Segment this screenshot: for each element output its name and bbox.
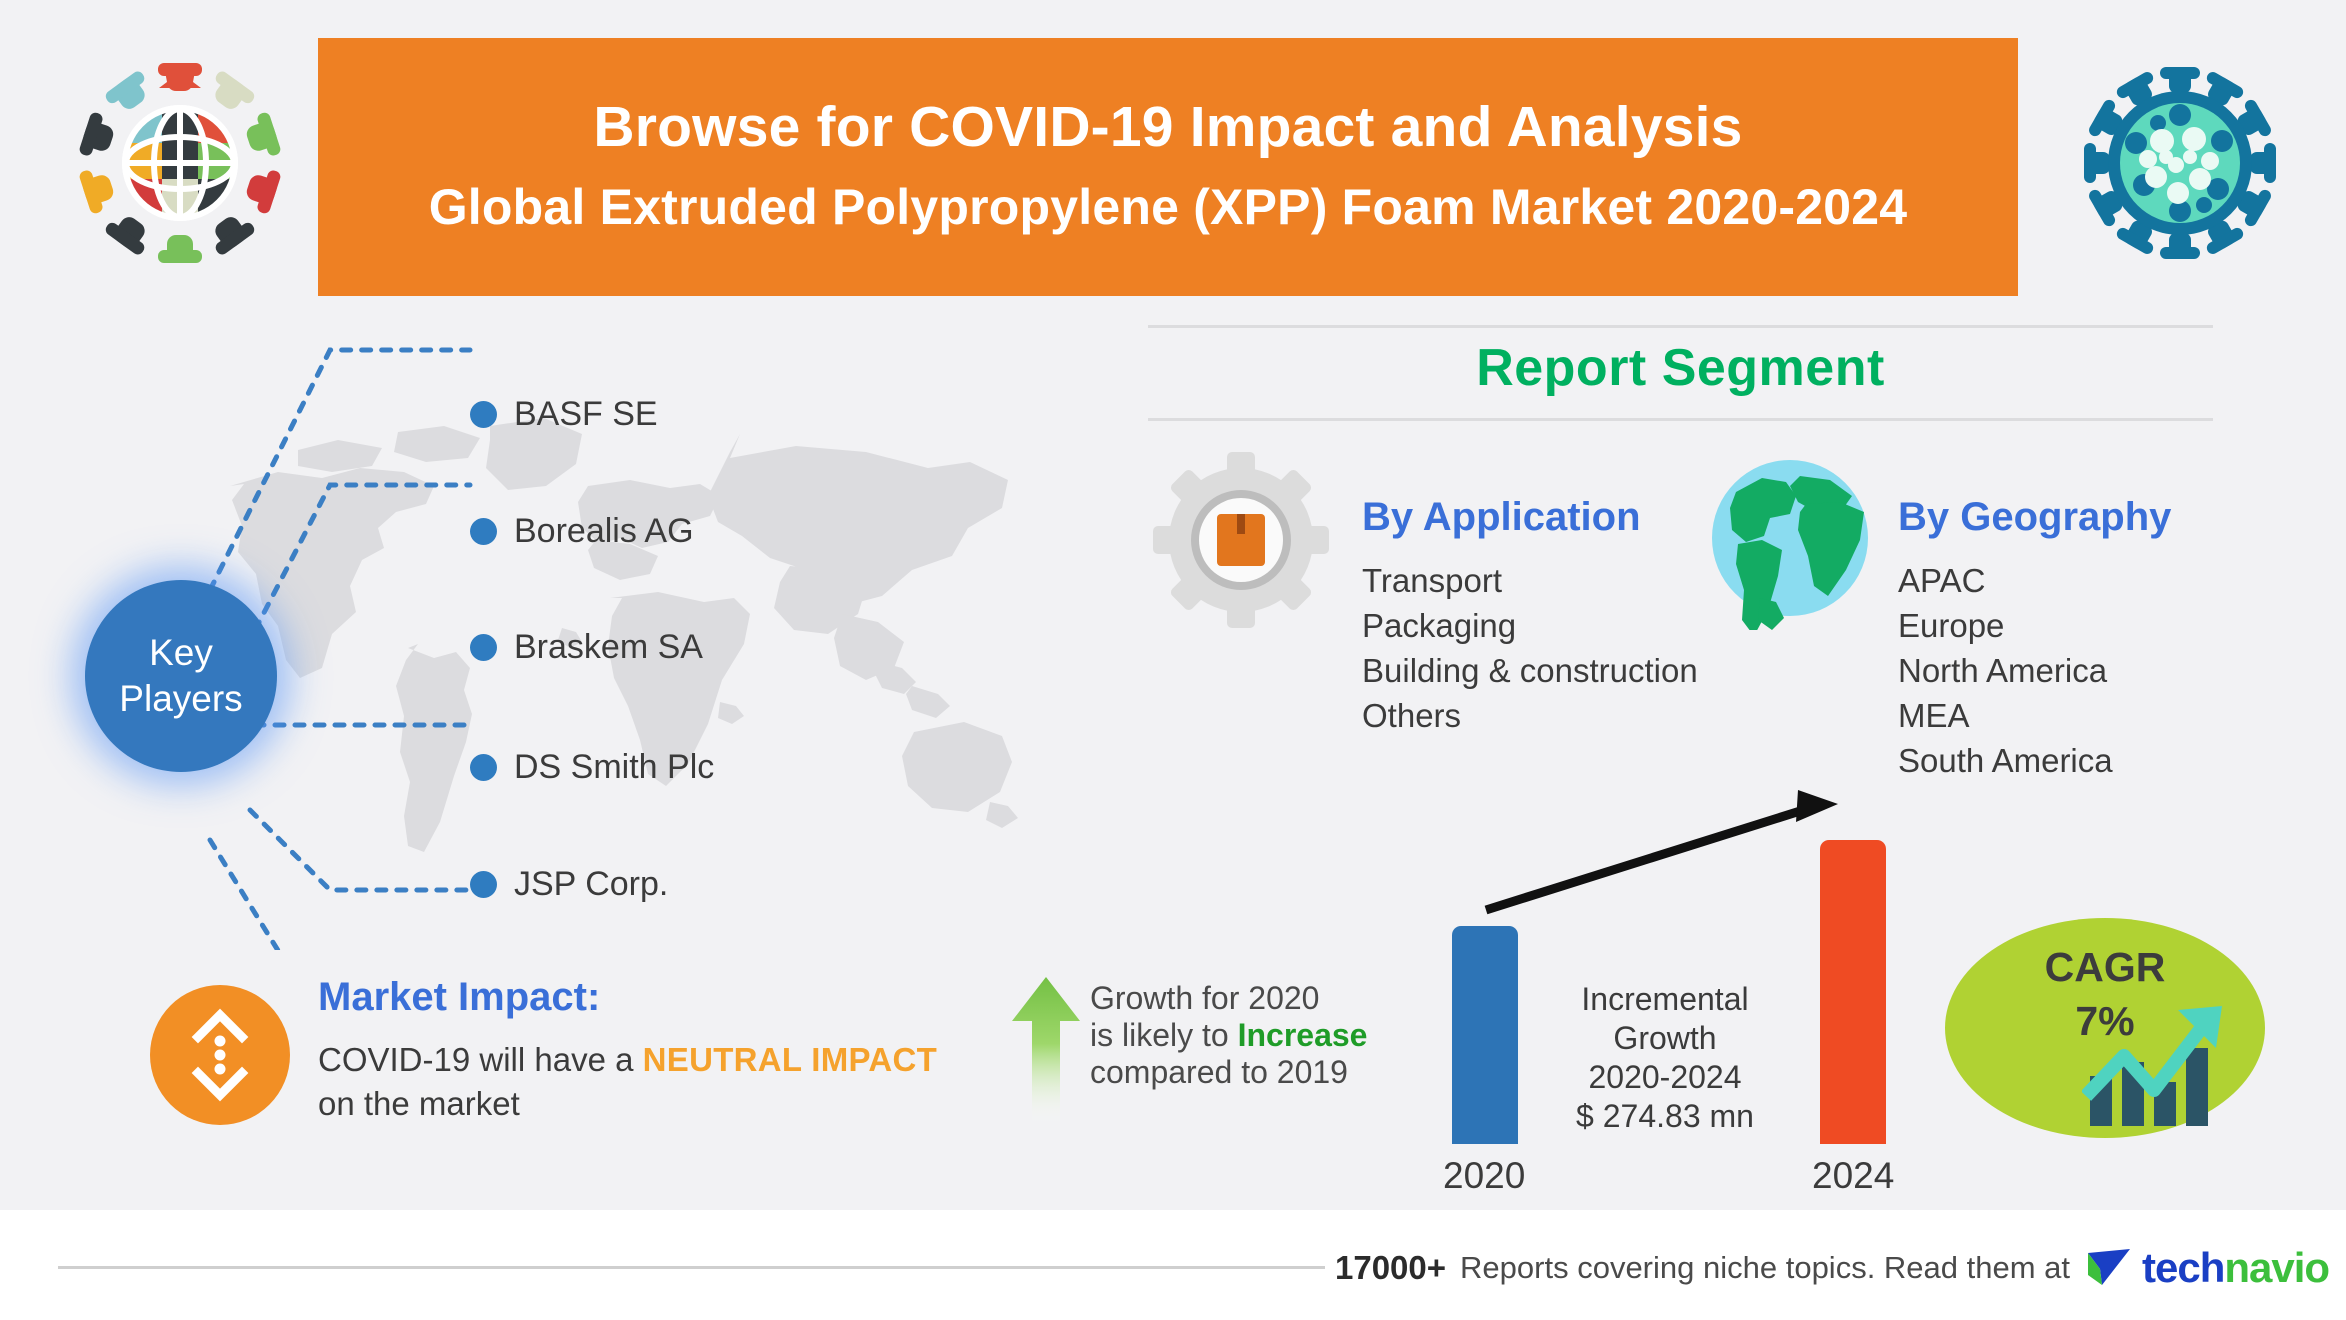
report-segment-title: Report Segment (1148, 338, 2213, 398)
segment-item: Building & construction (1362, 648, 1698, 693)
bullet-dot-icon (470, 634, 497, 661)
report-segment-divider-top (1148, 325, 2213, 328)
market-impact-text-before: COVID-19 will have a (318, 1041, 643, 1078)
segment-item: Transport (1362, 558, 1698, 603)
bar-2020 (1452, 926, 1518, 1144)
technavio-arrow-icon (2084, 1245, 2136, 1291)
segment-group-geography: By Geography APAC Europe North America M… (1898, 495, 2171, 783)
market-impact-title: Market Impact: (318, 975, 937, 1020)
growth-line2-before: is likely to (1090, 1017, 1238, 1053)
market-impact-block: Market Impact: COVID-19 will have a NEUT… (318, 975, 937, 1126)
bullet-dot-icon (470, 401, 497, 428)
neutral-up-down-arrow-icon (150, 985, 290, 1125)
key-player-item: Braskem SA (470, 628, 703, 667)
growth-line1: Growth for 2020 (1090, 980, 1367, 1017)
reports-count: 17000+ (1335, 1249, 1446, 1287)
segment-item: MEA (1898, 693, 2171, 738)
header-banner: Browse for COVID-19 Impact and Analysis … (318, 38, 2018, 296)
key-player-item: BASF SE (470, 395, 658, 434)
key-players-hub: Key Players (85, 580, 277, 772)
key-player-item: DS Smith Plc (470, 748, 714, 787)
key-player-label: Borealis AG (514, 512, 694, 551)
footer-tagline: Reports covering niche topics. Read them… (1460, 1250, 2070, 1286)
bullet-dot-icon (470, 518, 497, 545)
segment-item: APAC (1898, 558, 2171, 603)
bullet-dot-icon (470, 754, 497, 781)
globe-icon (1702, 452, 1878, 630)
market-impact-text-after: on the market (318, 1085, 520, 1122)
infographic-canvas: Browse for COVID-19 Impact and Analysis … (0, 0, 2346, 1320)
bar-label-2024: 2024 (1812, 1155, 1894, 1197)
trend-arrow-icon (1480, 790, 1840, 920)
segment-item: Europe (1898, 603, 2171, 648)
bar-2024 (1820, 840, 1886, 1144)
key-player-item: JSP Corp. (470, 865, 668, 904)
multicolor-virus-globe-icon (75, 58, 285, 268)
key-players-hub-line1: Key (149, 630, 213, 676)
gear-box-icon (1140, 450, 1342, 630)
segment-item: South America (1898, 738, 2171, 783)
growth-line3: compared to 2019 (1090, 1054, 1367, 1091)
market-impact-highlight: NEUTRAL IMPACT (643, 1041, 937, 1078)
report-segment-divider-bottom (1148, 418, 2213, 421)
annotation-line-4: $ 274.83 mn (1545, 1097, 1785, 1136)
market-impact-badge (150, 985, 290, 1125)
annotation-line-2: Growth (1545, 1019, 1785, 1058)
technavio-logo[interactable]: technavio (2084, 1244, 2329, 1292)
coronavirus-icon (2075, 58, 2285, 268)
cagr-label: CAGR (1945, 940, 2265, 994)
annotation-line-3: 2020-2024 (1545, 1058, 1785, 1097)
annotation-line-1: Incremental (1545, 980, 1785, 1019)
footer-content: 17000+ Reports covering niche topics. Re… (1325, 1240, 2339, 1296)
market-impact-text: COVID-19 will have a NEUTRAL IMPACT on t… (318, 1038, 937, 1126)
growth-bar-arrow-icon (2082, 1000, 2228, 1130)
incremental-growth-annotation: Incremental Growth 2020-2024 $ 274.83 mn (1545, 980, 1785, 1136)
key-player-label: Braskem SA (514, 628, 703, 667)
technavio-logo-word2: navio (2224, 1244, 2329, 1291)
segment-item: North America (1898, 648, 2171, 693)
key-player-item: Borealis AG (470, 512, 694, 551)
growth-note: Growth for 2020 is likely to Increase co… (1090, 980, 1367, 1091)
key-player-label: BASF SE (514, 395, 658, 434)
bullet-dot-icon (470, 871, 497, 898)
up-arrow-icon (1010, 975, 1082, 1125)
segment-group-application: By Application Transport Packaging Build… (1362, 495, 1698, 738)
technavio-logo-word1: tech (2142, 1244, 2224, 1291)
segment-title: By Geography (1898, 495, 2171, 540)
bar-label-2020: 2020 (1443, 1155, 1525, 1197)
growth-line2: is likely to Increase (1090, 1017, 1367, 1054)
growth-highlight: Increase (1238, 1017, 1368, 1053)
segment-item: Others (1362, 693, 1698, 738)
key-player-label: JSP Corp. (514, 865, 668, 904)
key-player-label: DS Smith Plc (514, 748, 714, 787)
segment-title: By Application (1362, 495, 1698, 540)
header-title-line2: Global Extruded Polypropylene (XPP) Foam… (429, 167, 1908, 247)
segment-item: Packaging (1362, 603, 1698, 648)
key-players-hub-line2: Players (119, 676, 242, 722)
header-title-line1: Browse for COVID-19 Impact and Analysis (593, 87, 1742, 167)
